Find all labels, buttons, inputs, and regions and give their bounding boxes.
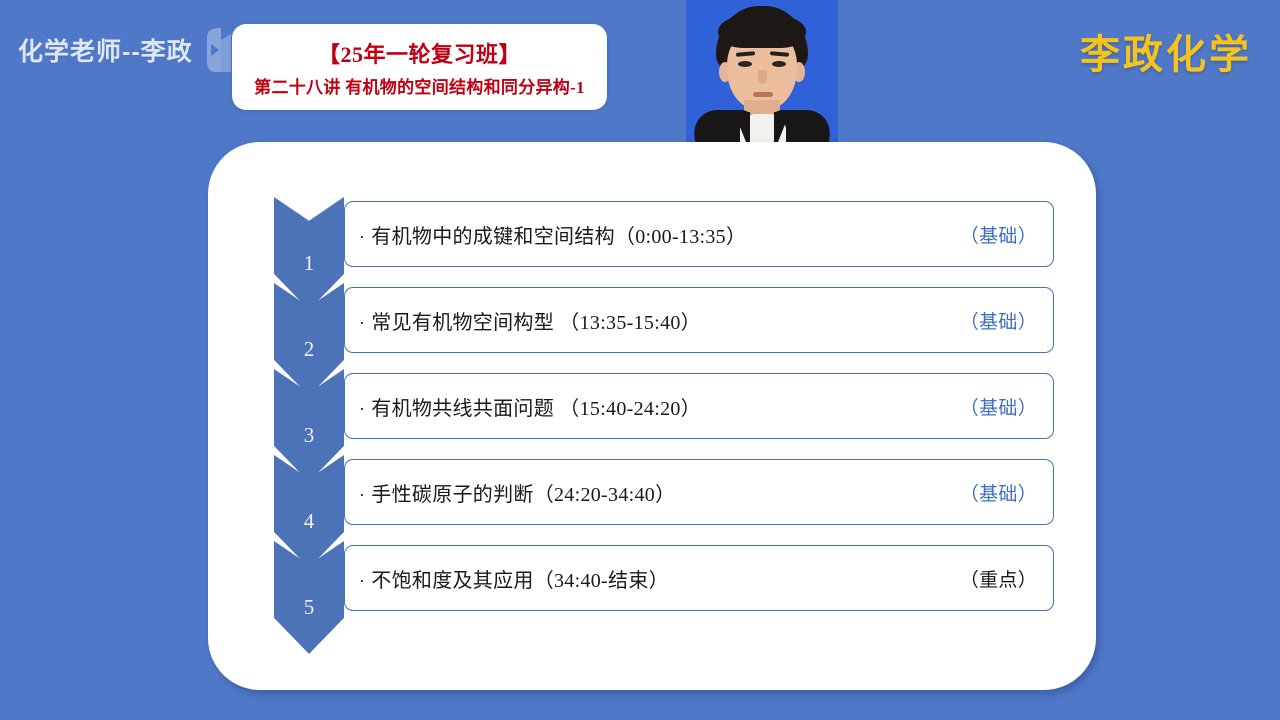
agenda-item-text: 不饱和度及其应用（34:40-结束） bbox=[371, 570, 669, 592]
presenter-portrait bbox=[686, 0, 838, 147]
agenda-card: 1 ·有机物中的成键和空间结构（0:00-13:35） （基础） 2 ·常见有机… bbox=[208, 142, 1096, 690]
agenda-item-label: ·手性碳原子的判断（24:20-34:40） bbox=[359, 478, 948, 507]
agenda-item-box[interactable]: ·有机物共线共面问题 （15:40-24:20） （基础） bbox=[344, 373, 1054, 439]
agenda-item-number: 5 bbox=[304, 597, 315, 654]
watermark-label: 化学老师--李政 bbox=[18, 32, 193, 68]
chevron-down-icon: 5 bbox=[274, 541, 344, 654]
agenda-item-box[interactable]: ·常见有机物空间构型 （13:35-15:40） （基础） bbox=[344, 287, 1054, 353]
status-badge: （基础） bbox=[960, 221, 1037, 248]
agenda-item-label: ·常见有机物空间构型 （13:35-15:40） bbox=[359, 306, 948, 335]
course-series-title: 【25年一轮复习班】 bbox=[318, 37, 521, 69]
list-item[interactable]: 1 ·有机物中的成键和空间结构（0:00-13:35） （基础） bbox=[274, 197, 1054, 283]
agenda-list: 1 ·有机物中的成键和空间结构（0:00-13:35） （基础） 2 ·常见有机… bbox=[274, 197, 1054, 627]
bullet-icon: · bbox=[359, 485, 365, 506]
bullet-icon: · bbox=[359, 399, 365, 420]
status-badge: （基础） bbox=[960, 393, 1037, 420]
agenda-item-text: 有机物共线共面问题 （15:40-24:20） bbox=[371, 398, 701, 420]
list-item[interactable]: 5 ·不饱和度及其应用（34:40-结束） （重点） bbox=[274, 541, 1054, 627]
status-badge: （基础） bbox=[960, 307, 1037, 334]
lesson-title: 第二十八讲 有机物的空间结构和同分异构-1 bbox=[254, 73, 585, 98]
brand-title: 李政化学 bbox=[1080, 22, 1252, 80]
agenda-item-label: ·有机物共线共面问题 （15:40-24:20） bbox=[359, 392, 948, 421]
bullet-icon: · bbox=[359, 227, 365, 248]
status-badge: （重点） bbox=[960, 565, 1037, 592]
agenda-item-label: ·不饱和度及其应用（34:40-结束） bbox=[359, 564, 948, 593]
bullet-icon: · bbox=[359, 571, 365, 592]
lecture-title-badge: 【25年一轮复习班】 第二十八讲 有机物的空间结构和同分异构-1 bbox=[232, 24, 607, 110]
status-badge: （基础） bbox=[960, 479, 1037, 506]
agenda-item-box[interactable]: ·不饱和度及其应用（34:40-结束） （重点） bbox=[344, 545, 1054, 611]
agenda-item-label: ·有机物中的成键和空间结构（0:00-13:35） bbox=[359, 220, 948, 249]
slide-canvas: 化学老师--李政 bbox=[0, 0, 1280, 720]
agenda-item-text: 有机物中的成键和空间结构（0:00-13:35） bbox=[371, 226, 746, 248]
list-item[interactable]: 3 ·有机物共线共面问题 （15:40-24:20） （基础） bbox=[274, 369, 1054, 455]
agenda-item-box[interactable]: ·有机物中的成键和空间结构（0:00-13:35） （基础） bbox=[344, 201, 1054, 267]
agenda-item-box[interactable]: ·手性碳原子的判断（24:20-34:40） （基础） bbox=[344, 459, 1054, 525]
list-item[interactable]: 2 ·常见有机物空间构型 （13:35-15:40） （基础） bbox=[274, 283, 1054, 369]
agenda-item-text: 手性碳原子的判断（24:20-34:40） bbox=[371, 484, 675, 506]
bullet-icon: · bbox=[359, 313, 365, 334]
list-item[interactable]: 4 ·手性碳原子的判断（24:20-34:40） （基础） bbox=[274, 455, 1054, 541]
agenda-item-text: 常见有机物空间构型 （13:35-15:40） bbox=[371, 312, 701, 334]
